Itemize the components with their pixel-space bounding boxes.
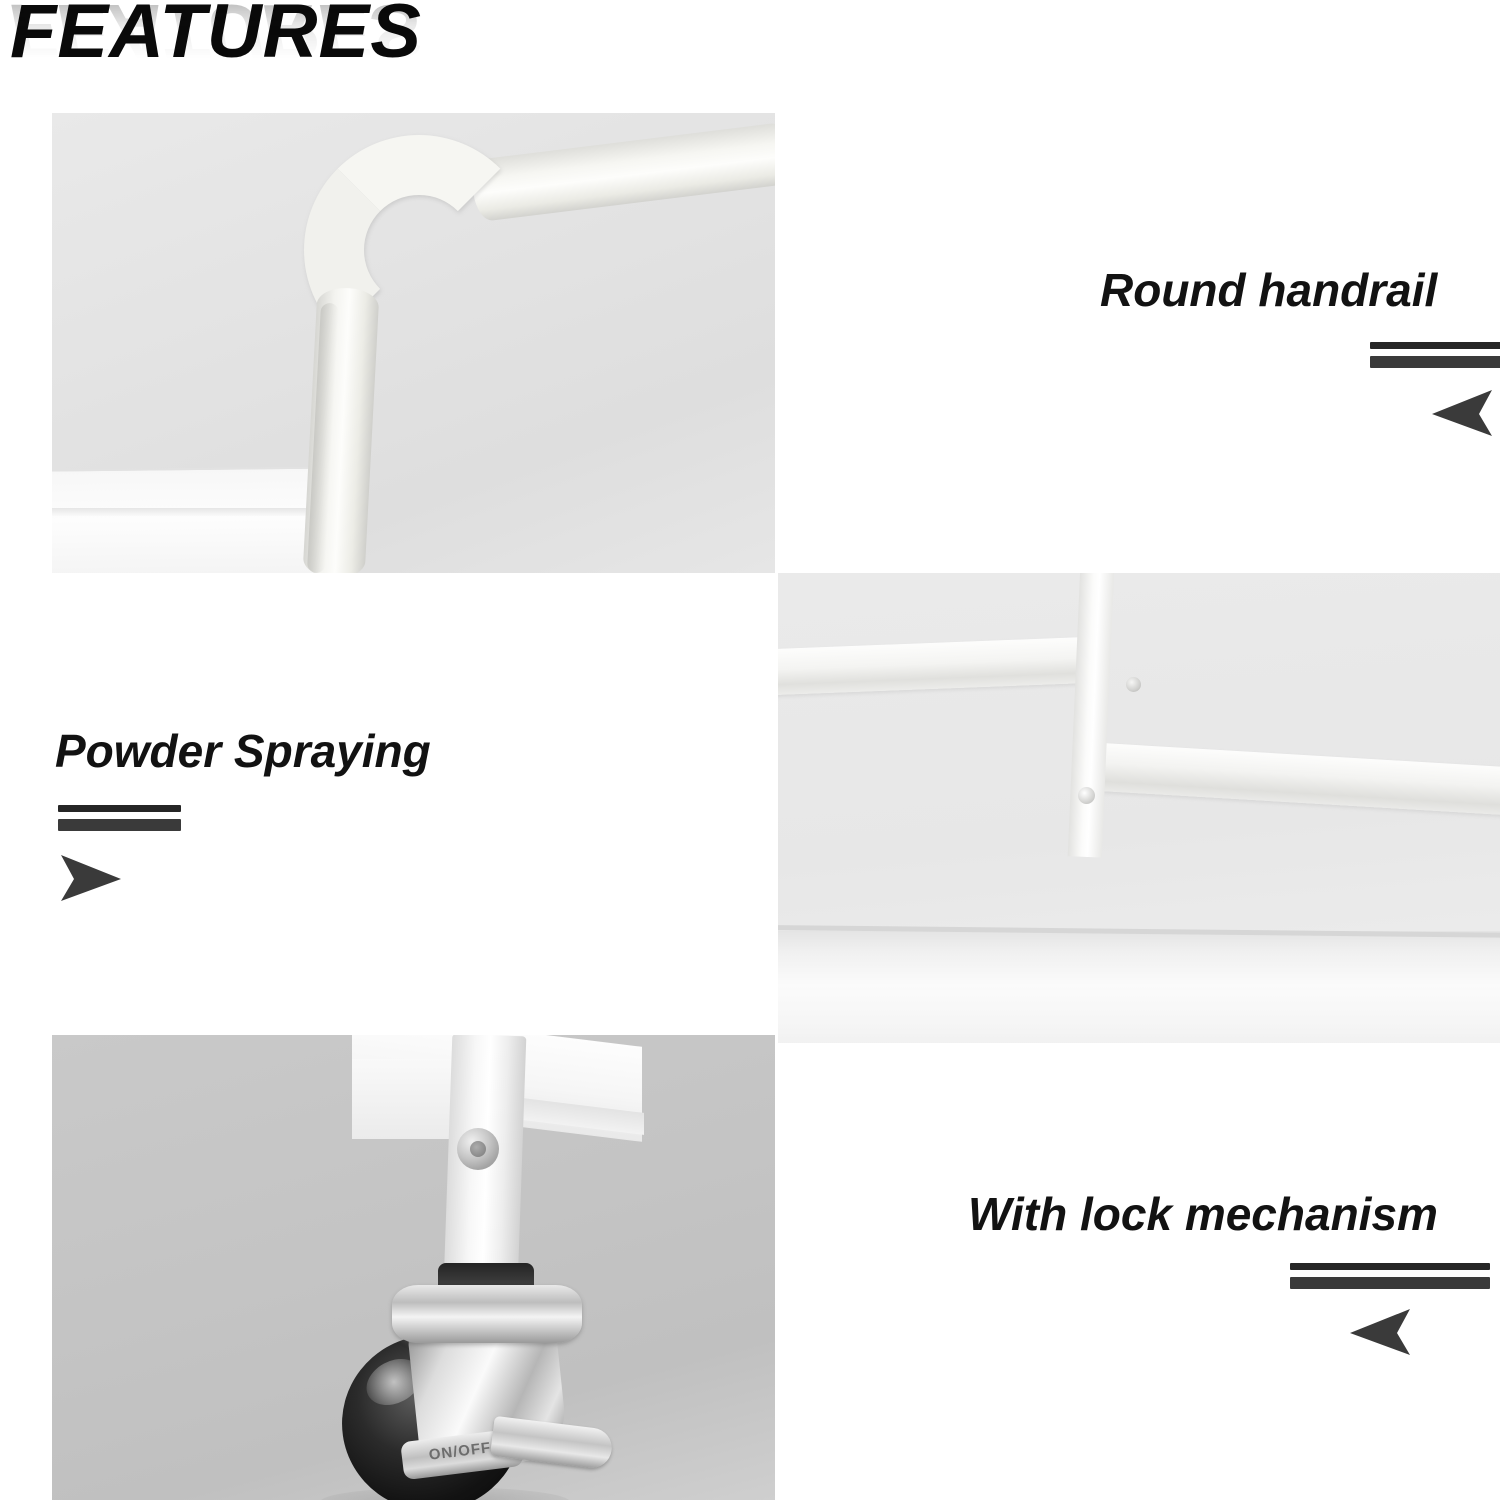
rule-thin	[58, 805, 181, 812]
rule-thick	[1290, 1277, 1490, 1289]
callout-with-lock-mechanism: With lock mechanism	[968, 1190, 1438, 1238]
rule-thick	[58, 819, 181, 831]
cart-shelf-surface	[778, 931, 1500, 1043]
rule-thick	[1370, 356, 1500, 368]
callout-label-with-lock-mechanism: With lock mechanism	[968, 1190, 1438, 1238]
arrow-left-icon	[1348, 1307, 1418, 1357]
caster-swivel-cap	[392, 1285, 582, 1343]
shelf-edge	[52, 508, 346, 516]
photo-rails	[778, 573, 1500, 1043]
arrow-left-icon	[1430, 388, 1500, 438]
rule-thin	[1370, 342, 1500, 349]
callout-powder-spraying: Powder Spraying	[55, 727, 431, 775]
callout-rules	[1290, 1263, 1490, 1289]
features-infographic: FEATURES FEATURES ON/OFF	[0, 0, 1500, 1500]
arrow-right-icon	[55, 853, 125, 903]
callout-label-round-handrail: Round handrail	[1100, 266, 1437, 314]
page-title-block: FEATURES FEATURES	[10, 0, 630, 124]
page-title-reflection: FEATURES	[10, 0, 422, 68]
photo-caster: ON/OFF	[52, 1035, 775, 1500]
rail-rivet-lower	[1078, 787, 1095, 804]
guard-rail-upper	[778, 637, 1097, 696]
callout-rules	[58, 805, 181, 831]
corner-post	[1068, 573, 1115, 858]
photo-handrail	[52, 113, 775, 573]
leg-screw	[457, 1128, 499, 1170]
callout-round-handrail: Round handrail	[1100, 266, 1437, 314]
rail-rivet-upper	[1126, 677, 1141, 692]
callout-label-powder-spraying: Powder Spraying	[55, 727, 431, 775]
callout-rules	[1370, 342, 1500, 368]
guard-rail-lower	[1087, 742, 1500, 815]
rule-thin	[1290, 1263, 1490, 1270]
